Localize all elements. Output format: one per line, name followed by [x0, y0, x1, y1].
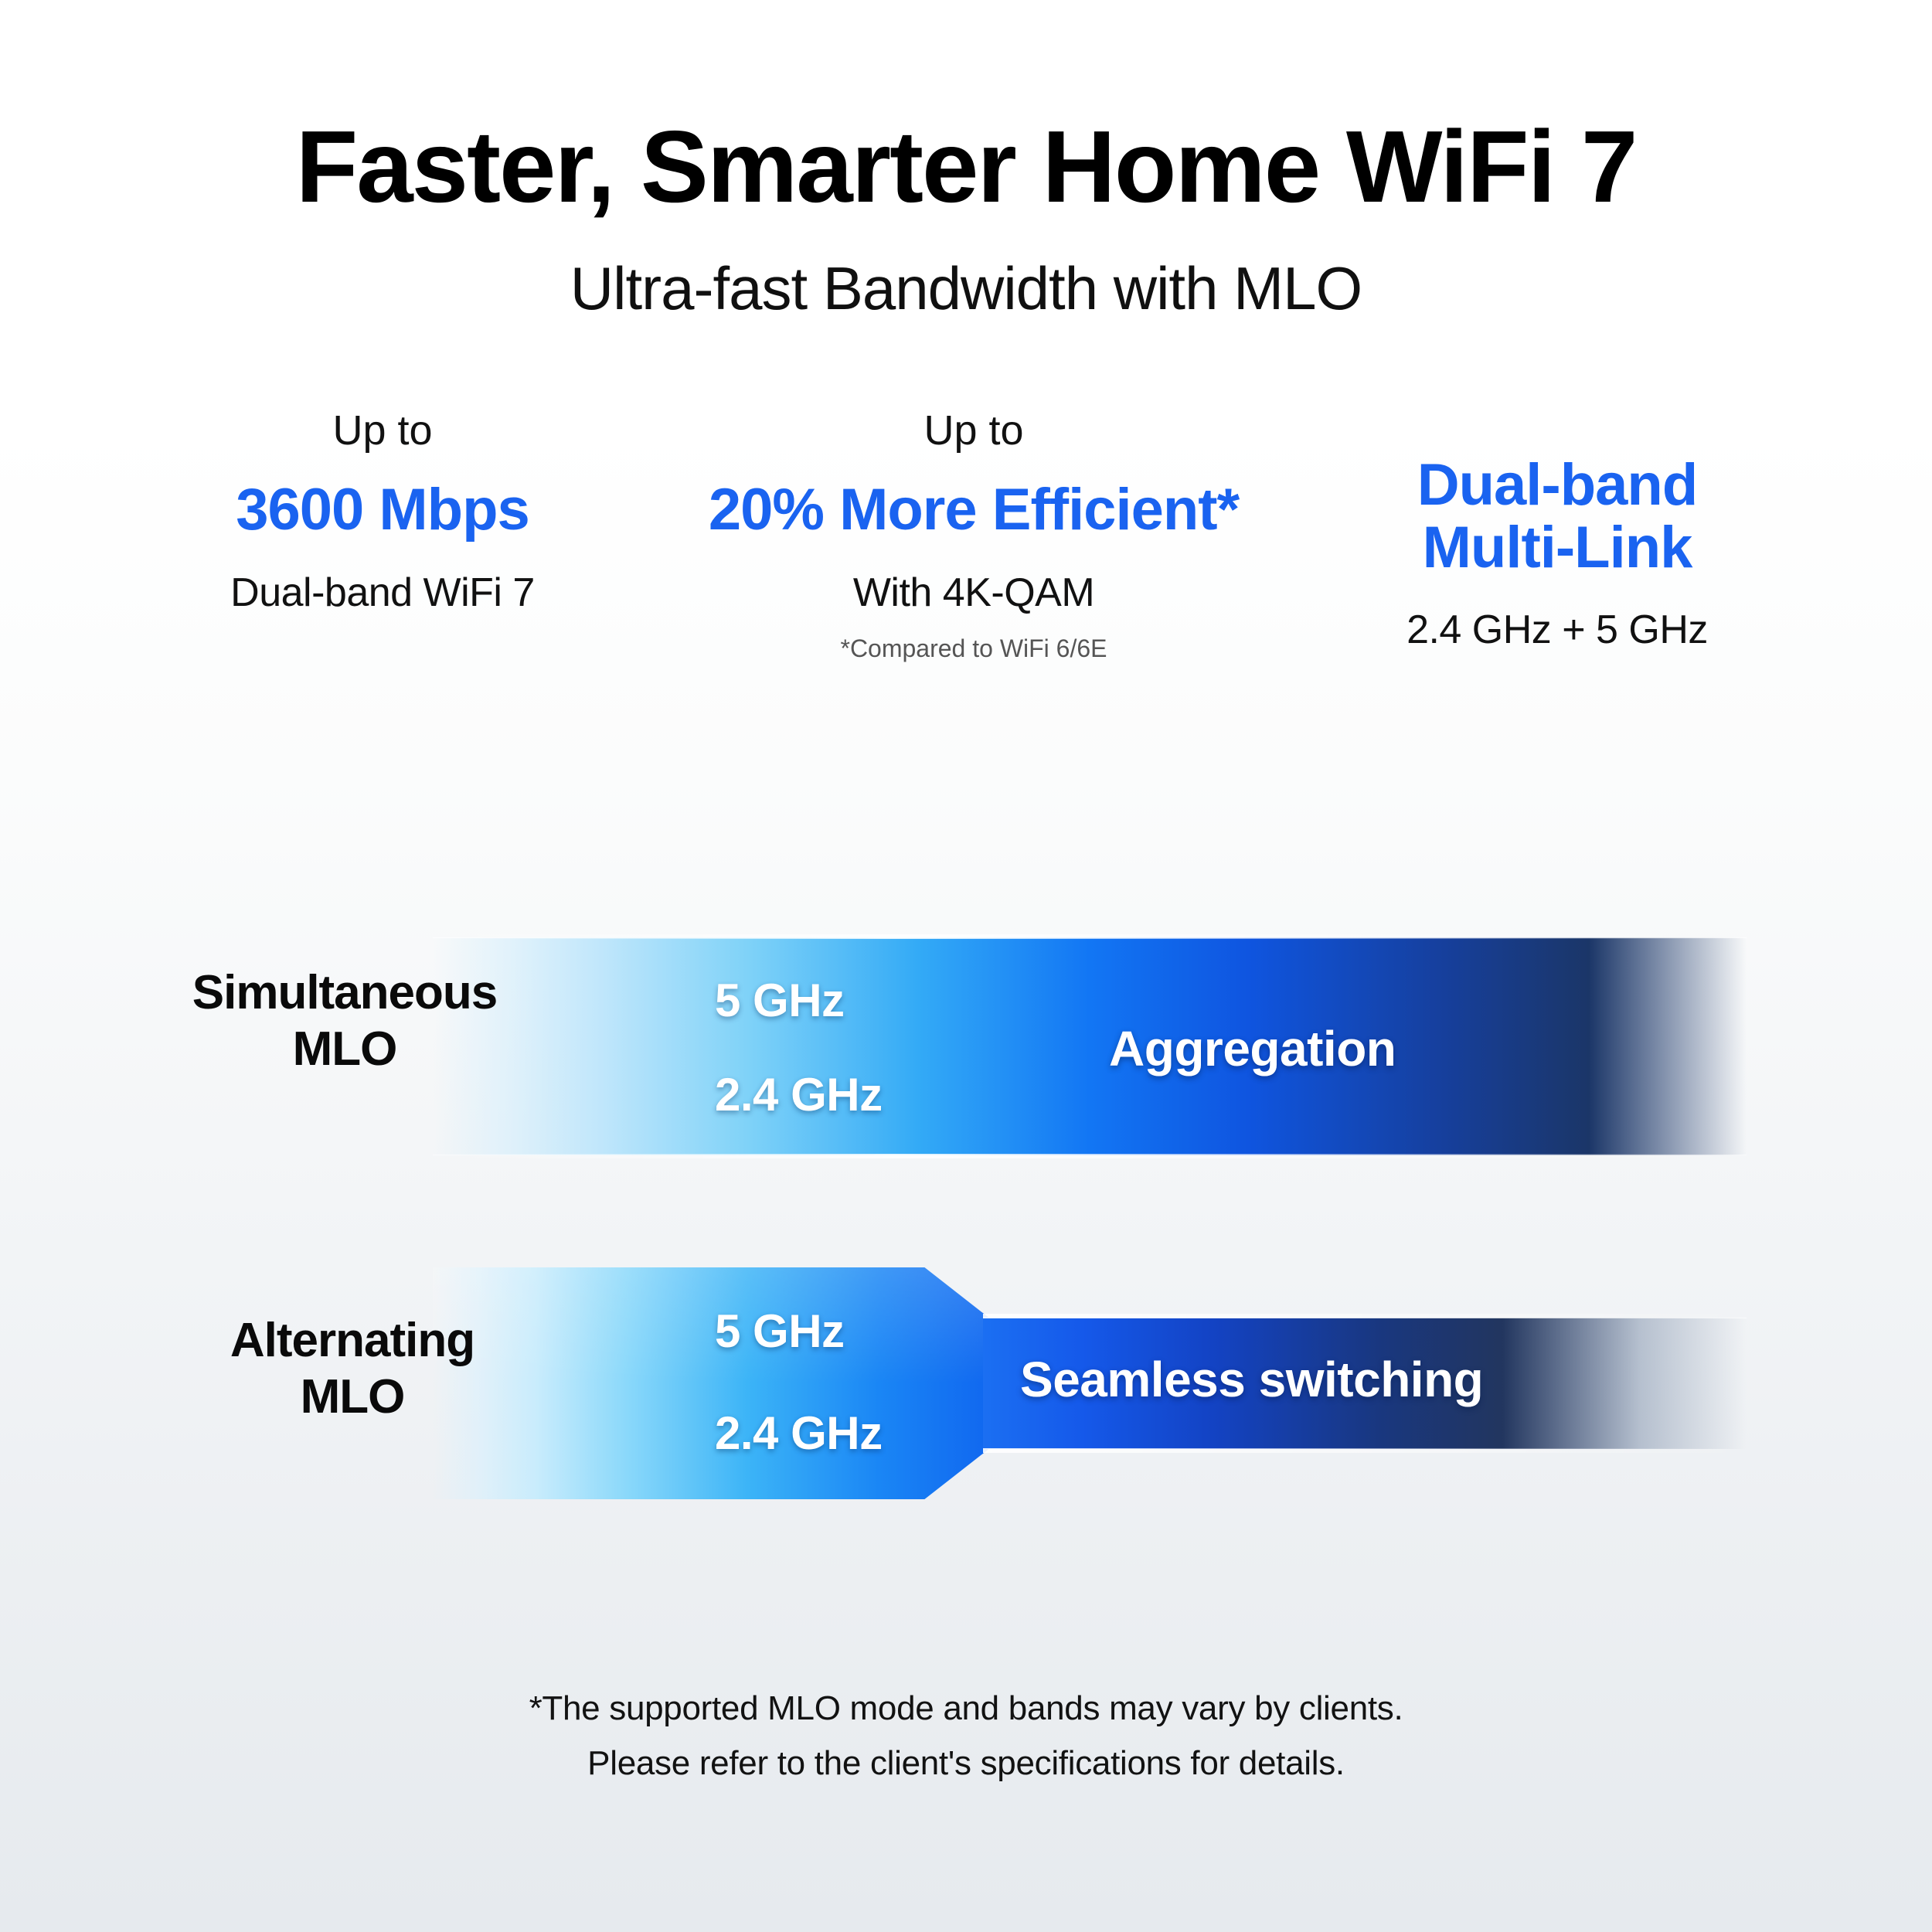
mlo-mode-label-line-1: Alternating — [159, 1312, 546, 1369]
stat-footnote: *Compared to WiFi 6/6E — [661, 636, 1287, 661]
mlo-mode-label-line-2: MLO — [144, 1021, 546, 1077]
stat-value: Dual-band Multi-Link — [1287, 454, 1828, 579]
band-label-24ghz: 2.4 GHz — [715, 1068, 883, 1121]
page-title: Faster, Smarter Home WiFi 7 — [0, 116, 1932, 218]
stat-prefix: Up to — [104, 410, 661, 457]
page-subtitle: Ultra-fast Bandwidth with MLO — [0, 258, 1932, 318]
disclaimer-line-1: *The supported MLO mode and bands may va… — [0, 1681, 1932, 1736]
stat-value: 3600 Mbps — [104, 479, 661, 542]
band-label-24ghz: 2.4 GHz — [715, 1406, 883, 1460]
stat-value: 20% More Efficient* — [661, 479, 1287, 542]
stat-card-efficiency: Up to 20% More Efficient* With 4K-QAM *C… — [661, 410, 1287, 661]
stat-caption: With 4K-QAM — [661, 573, 1287, 613]
stat-card-multilink: Dual-band Multi-Link 2.4 GHz + 5 GHz — [1287, 410, 1828, 650]
mlo-outcome-label: Seamless switching — [1020, 1351, 1483, 1408]
stat-caption: Dual-band WiFi 7 — [104, 573, 661, 613]
stat-value-line-1: Dual-band — [1287, 454, 1828, 517]
mlo-mode-label-line-2: MLO — [159, 1369, 546, 1425]
bandwidth-bar-aggregated — [433, 937, 1747, 1155]
header: Faster, Smarter Home WiFi 7 Ultra-fast B… — [0, 0, 1932, 318]
band-label-5ghz: 5 GHz — [715, 974, 845, 1027]
mlo-mode-label: Alternating MLO — [159, 1312, 546, 1425]
disclaimer-line-2: Please refer to the client's specificati… — [0, 1736, 1932, 1791]
mlo-mode-simultaneous: Simultaneous MLO 5 GHz 2.4 GHz Aggregati… — [0, 912, 1932, 1167]
stat-card-speed: Up to 3600 Mbps Dual-band WiFi 7 — [104, 410, 661, 613]
stat-caption: 2.4 GHz + 5 GHz — [1287, 610, 1828, 650]
band-label-5ghz: 5 GHz — [715, 1304, 845, 1358]
stat-prefix: Up to — [661, 410, 1287, 457]
mlo-mode-label: Simultaneous MLO — [144, 964, 546, 1077]
stats-row: Up to 3600 Mbps Dual-band WiFi 7 Up to 2… — [0, 410, 1932, 661]
mlo-diagram: Simultaneous MLO 5 GHz 2.4 GHz Aggregati… — [0, 912, 1932, 1577]
stat-value-line-2: Multi-Link — [1287, 517, 1828, 580]
mlo-outcome-label: Aggregation — [1109, 1020, 1396, 1077]
disclaimer: *The supported MLO mode and bands may va… — [0, 1681, 1932, 1791]
mlo-mode-alternating: Alternating MLO 5 GHz 2.4 GHz Seamless s… — [0, 1252, 1932, 1515]
mlo-mode-label-line-1: Simultaneous — [144, 964, 546, 1021]
